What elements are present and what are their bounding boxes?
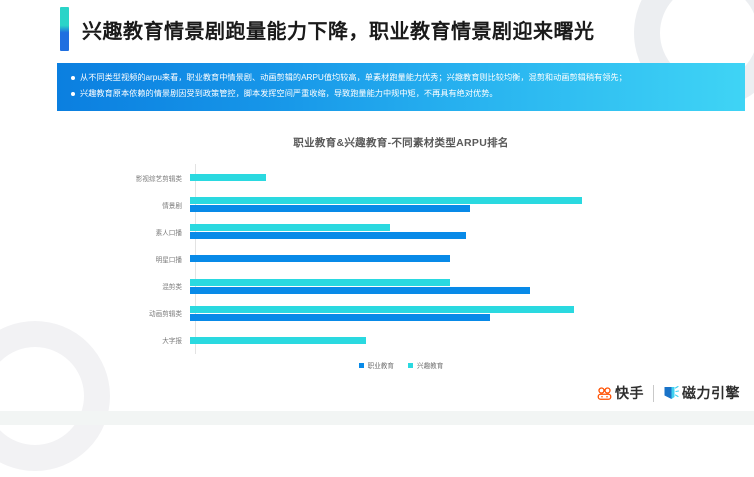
ciliqingqing-logo-icon: [663, 386, 679, 400]
chart-bar-group: [190, 273, 745, 300]
chart-legend-label: 兴趣教育: [417, 360, 443, 370]
chart-bar-interest: [190, 224, 390, 231]
chart-bar-group: [190, 300, 745, 327]
chart-bar-vocational: [190, 287, 530, 294]
chart-bar-row: 影视综艺剪辑类: [57, 164, 745, 191]
summary-bullet-item: 从不同类型视频的arpu来看，职业教育中情景剧、动画剪辑的ARPU值均较高，单素…: [57, 70, 745, 86]
chart-title: 职业教育&兴趣教育-不同素材类型ARPU排名: [57, 120, 745, 150]
chart-category-label: 大字报: [57, 335, 189, 345]
chart-legend-swatch: [408, 363, 413, 368]
page-header: 兴趣教育情景剧跑量能力下降，职业教育情景剧迎来曙光: [0, 0, 754, 58]
brand-ciliqingqing: 磁力引擎: [663, 383, 740, 403]
brand-kuaishou-label: 快手: [615, 383, 644, 403]
summary-bullet-text: 从不同类型视频的arpu来看，职业教育中情景剧、动画剪辑的ARPU值均较高，单素…: [80, 70, 627, 86]
chart-bar-group: [190, 327, 745, 354]
chart-bar-interest: [190, 174, 266, 181]
chart-bar-vocational: [190, 205, 470, 212]
summary-bullet-text: 兴趣教育原本依赖的情景剧因受到政策管控，脚本发挥空间严重收缩，导致跑量能力中规中…: [80, 86, 498, 102]
chart-legend-swatch: [359, 363, 364, 368]
chart-category-label: 影视综艺剪辑类: [57, 173, 189, 183]
bullet-dot-icon: [71, 92, 75, 96]
footer-brand: 快手 磁力引擎: [597, 383, 740, 403]
chart-category-label: 明星口播: [57, 254, 189, 264]
chart-legend: 职业教育兴趣教育: [57, 360, 745, 370]
chart-bar-group: [190, 218, 745, 245]
chart-bar-rows: 影视综艺剪辑类情景剧素人口播明星口播混剪类动画剪辑类大字报: [57, 164, 745, 354]
chart-bar-row: 大字报: [57, 327, 745, 354]
chart-plot-area: 影视综艺剪辑类情景剧素人口播明星口播混剪类动画剪辑类大字报: [57, 164, 745, 354]
page-bottom-strip: [0, 411, 754, 425]
chart-category-label: 素人口播: [57, 227, 189, 237]
kuaishou-logo-icon: [597, 387, 612, 400]
chart-category-label: 动画剪辑类: [57, 308, 189, 318]
chart-bar-row: 混剪类: [57, 273, 745, 300]
title-accent-bar: [60, 7, 69, 51]
chart-bar-row: 情景剧: [57, 191, 745, 218]
chart-bar-row: 素人口播: [57, 218, 745, 245]
chart-bar-vocational: [190, 255, 450, 262]
chart-legend-label: 职业教育: [368, 360, 394, 370]
chart-bar-interest: [190, 279, 450, 286]
chart-bar-group: [190, 245, 745, 272]
chart-legend-item[interactable]: 职业教育: [359, 360, 394, 370]
page-title: 兴趣教育情景剧跑量能力下降，职业教育情景剧迎来曙光: [82, 15, 595, 44]
brand-ciliqingqing-label: 磁力引擎: [682, 383, 740, 403]
chart-card: 职业教育&兴趣教育-不同素材类型ARPU排名 影视综艺剪辑类情景剧素人口播明星口…: [57, 120, 745, 385]
brand-divider: [653, 385, 654, 402]
brand-kuaishou: 快手: [597, 383, 644, 403]
chart-bar-interest: [190, 306, 574, 313]
bullet-dot-icon: [71, 76, 75, 80]
chart-bar-row: 明星口播: [57, 245, 745, 272]
chart-bar-group: [190, 164, 745, 191]
chart-bar-interest: [190, 197, 582, 204]
chart-bar-group: [190, 191, 745, 218]
summary-banner: 从不同类型视频的arpu来看，职业教育中情景剧、动画剪辑的ARPU值均较高，单素…: [57, 63, 745, 111]
chart-bar-vocational: [190, 232, 466, 239]
chart-bar-interest: [190, 337, 366, 344]
chart-legend-item[interactable]: 兴趣教育: [408, 360, 443, 370]
chart-category-label: 混剪类: [57, 281, 189, 291]
chart-category-label: 情景剧: [57, 200, 189, 210]
chart-bar-vocational: [190, 314, 490, 321]
chart-bar-row: 动画剪辑类: [57, 300, 745, 327]
summary-bullet-item: 兴趣教育原本依赖的情景剧因受到政策管控，脚本发挥空间严重收缩，导致跑量能力中规中…: [57, 86, 745, 102]
